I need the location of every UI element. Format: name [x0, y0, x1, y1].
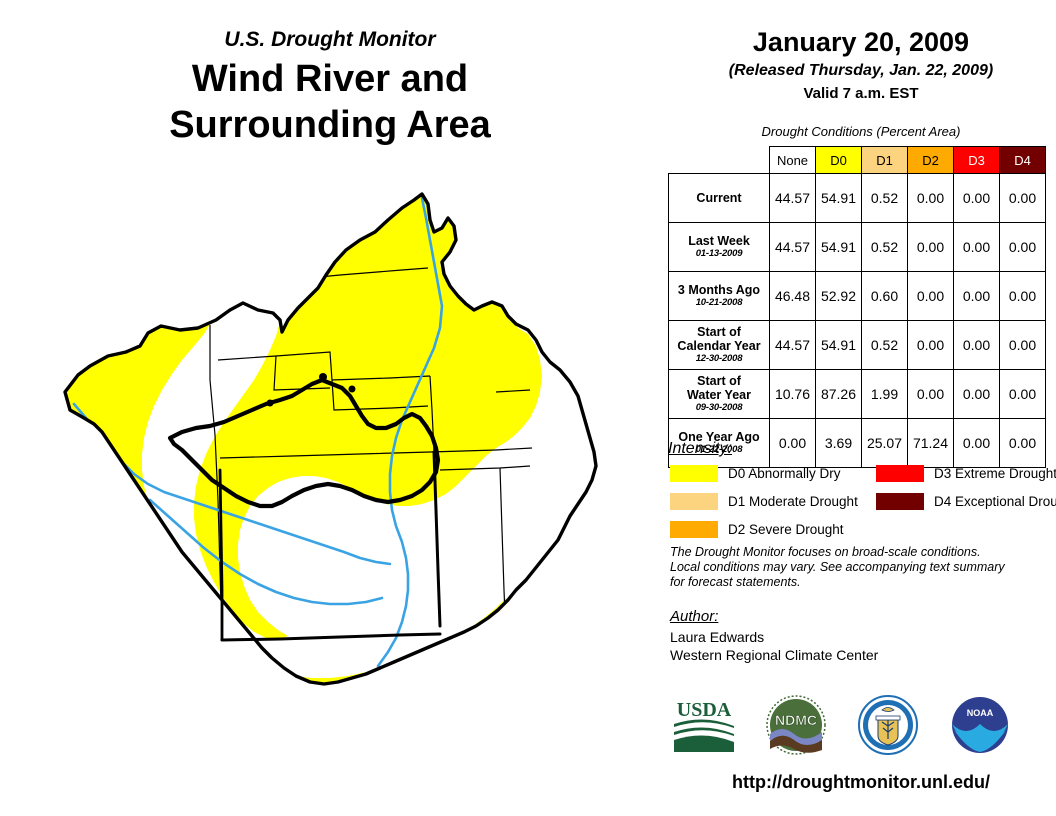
column-header-d1: D1: [862, 147, 908, 174]
legend-label-d3: D3 Extreme Drought: [934, 466, 1056, 481]
cell-3-d1: 0.52: [862, 321, 908, 370]
cell-4-d3: 0.00: [954, 370, 1000, 419]
legend-swatch-d2: [670, 521, 718, 538]
cell-0-d4: 0.00: [1000, 174, 1046, 223]
cell-4-none: 10.76: [770, 370, 816, 419]
column-header-none: None: [770, 147, 816, 174]
cell-0-none: 44.57: [770, 174, 816, 223]
legend-label-d0: D0 Abnormally Dry: [728, 466, 841, 481]
svg-text:NOAA: NOAA: [967, 708, 994, 718]
legend-item-d4: D4 Exceptional Drought: [876, 492, 1056, 510]
legend-swatch-d1: [670, 493, 718, 510]
cell-1-d2: 0.00: [908, 223, 954, 272]
author-block: Author: Laura Edwards Western Regional C…: [670, 608, 1050, 664]
logo-row: USDA NDMC: [666, 694, 1056, 758]
page-title: Wind River and Surrounding Area: [0, 56, 660, 148]
drought-monitor-page: U.S. Drought Monitor Wind River and Surr…: [0, 0, 1056, 816]
table-row: Last Week01-13-200944.5754.910.520.000.0…: [669, 223, 1046, 272]
cell-3-d3: 0.00: [954, 321, 1000, 370]
cell-2-d4: 0.00: [1000, 272, 1046, 321]
legend-swatch-d4: [876, 493, 924, 510]
table-row: Start ofCalendar Year12-30-200844.5754.9…: [669, 321, 1046, 370]
table-body: Current44.5754.910.520.000.000.00Last We…: [669, 174, 1046, 468]
site-url: http://droughtmonitor.unl.edu/: [666, 772, 1056, 793]
cell-2-none: 46.48: [770, 272, 816, 321]
table-row: 3 Months Ago10-21-200846.4852.920.600.00…: [669, 272, 1046, 321]
landmark-dot-2: [349, 386, 356, 393]
svg-text:NDMC: NDMC: [775, 712, 817, 728]
intensity-legend-title: Intensity:: [668, 440, 1056, 458]
issue-date: January 20, 2009: [666, 26, 1056, 58]
author-affiliation: Western Regional Climate Center: [670, 646, 1050, 664]
cell-3-none: 44.57: [770, 321, 816, 370]
cell-2-d3: 0.00: [954, 272, 1000, 321]
drought-conditions-table: None D0 D1 D2 D3 D4 Current44.5754.910.5…: [668, 146, 1046, 468]
row-label-1: Last Week01-13-2009: [669, 223, 770, 272]
intensity-legend: Intensity: D0 Abnormally Dry D1 Moderate…: [668, 440, 1056, 548]
cell-1-d1: 0.52: [862, 223, 908, 272]
row-date-3: 12-30-2008: [672, 353, 766, 365]
valid-time: Valid 7 a.m. EST: [666, 84, 1056, 104]
legend-swatch-d3: [876, 465, 924, 482]
table-row: Current44.5754.910.520.000.000.00: [669, 174, 1046, 223]
d0-area-west: [66, 324, 220, 632]
thick-county-line-left: [220, 470, 222, 640]
row-date-1: 01-13-2009: [672, 248, 766, 260]
author-title: Author:: [670, 608, 1050, 625]
legend-label-d1: D1 Moderate Drought: [728, 494, 858, 509]
d0-area-north: [194, 196, 542, 640]
legend-label-d4: D4 Exceptional Drought: [934, 494, 1056, 509]
legend-item-d2: D2 Severe Drought: [670, 520, 844, 538]
table-corner-cell: [669, 147, 770, 174]
legend-label-d2: D2 Severe Drought: [728, 522, 844, 537]
cell-0-d0: 54.91: [816, 174, 862, 223]
author-name: Laura Edwards: [670, 628, 1050, 646]
cell-3-d2: 0.00: [908, 321, 954, 370]
cell-0-d3: 0.00: [954, 174, 1000, 223]
map-svg[interactable]: [30, 170, 660, 750]
cell-4-d1: 1.99: [862, 370, 908, 419]
legend-grid: D0 Abnormally Dry D1 Moderate Drought D2…: [668, 464, 1056, 548]
cell-0-d2: 0.00: [908, 174, 954, 223]
column-header-d3: D3: [954, 147, 1000, 174]
landmark-dot-3: [267, 400, 274, 407]
table-row: Start ofWater Year09-30-200810.7687.261.…: [669, 370, 1046, 419]
column-header-d2: D2: [908, 147, 954, 174]
cell-1-none: 44.57: [770, 223, 816, 272]
noaa-logo: NOAA: [948, 694, 1012, 756]
legend-item-d0: D0 Abnormally Dry: [670, 464, 841, 482]
column-header-d0: D0: [816, 147, 862, 174]
commerce-seal-logo: [856, 694, 920, 756]
cell-3-d0: 54.91: [816, 321, 862, 370]
title-block: U.S. Drought Monitor Wind River and Surr…: [0, 28, 660, 148]
column-header-d4: D4: [1000, 147, 1046, 174]
usda-logo: USDA: [672, 694, 736, 756]
row-label-3: Start ofCalendar Year12-30-2008: [669, 321, 770, 370]
cell-4-d0: 87.26: [816, 370, 862, 419]
svg-text:USDA: USDA: [677, 699, 732, 721]
table-caption: Drought Conditions (Percent Area): [666, 124, 1056, 139]
ndmc-logo: NDMC: [764, 694, 828, 756]
cell-2-d2: 0.00: [908, 272, 954, 321]
date-block: January 20, 2009 (Released Thursday, Jan…: [666, 26, 1056, 104]
row-label-0: Current: [669, 174, 770, 223]
cell-0-d1: 0.52: [862, 174, 908, 223]
cell-4-d4: 0.00: [1000, 370, 1046, 419]
row-label-4: Start ofWater Year09-30-2008: [669, 370, 770, 419]
cell-2-d0: 52.92: [816, 272, 862, 321]
row-label-2: 3 Months Ago10-21-2008: [669, 272, 770, 321]
d0-drought-areas: [66, 196, 554, 688]
cell-1-d4: 0.00: [1000, 223, 1046, 272]
drought-map[interactable]: [30, 170, 660, 750]
landmark-dot-1: [319, 373, 327, 381]
cell-2-d1: 0.60: [862, 272, 908, 321]
disclaimer-text: The Drought Monitor focuses on broad-sca…: [670, 545, 1050, 590]
row-date-2: 10-21-2008: [672, 297, 766, 309]
legend-item-d1: D1 Moderate Drought: [670, 492, 858, 510]
program-label: U.S. Drought Monitor: [0, 28, 660, 52]
table-header-row: None D0 D1 D2 D3 D4: [669, 147, 1046, 174]
release-date: (Released Thursday, Jan. 22, 2009): [666, 60, 1056, 82]
cell-1-d0: 54.91: [816, 223, 862, 272]
cell-3-d4: 0.00: [1000, 321, 1046, 370]
legend-swatch-d0: [670, 465, 718, 482]
cell-1-d3: 0.00: [954, 223, 1000, 272]
cell-4-d2: 0.00: [908, 370, 954, 419]
row-date-4: 09-30-2008: [672, 402, 766, 414]
legend-item-d3: D3 Extreme Drought: [876, 464, 1056, 482]
